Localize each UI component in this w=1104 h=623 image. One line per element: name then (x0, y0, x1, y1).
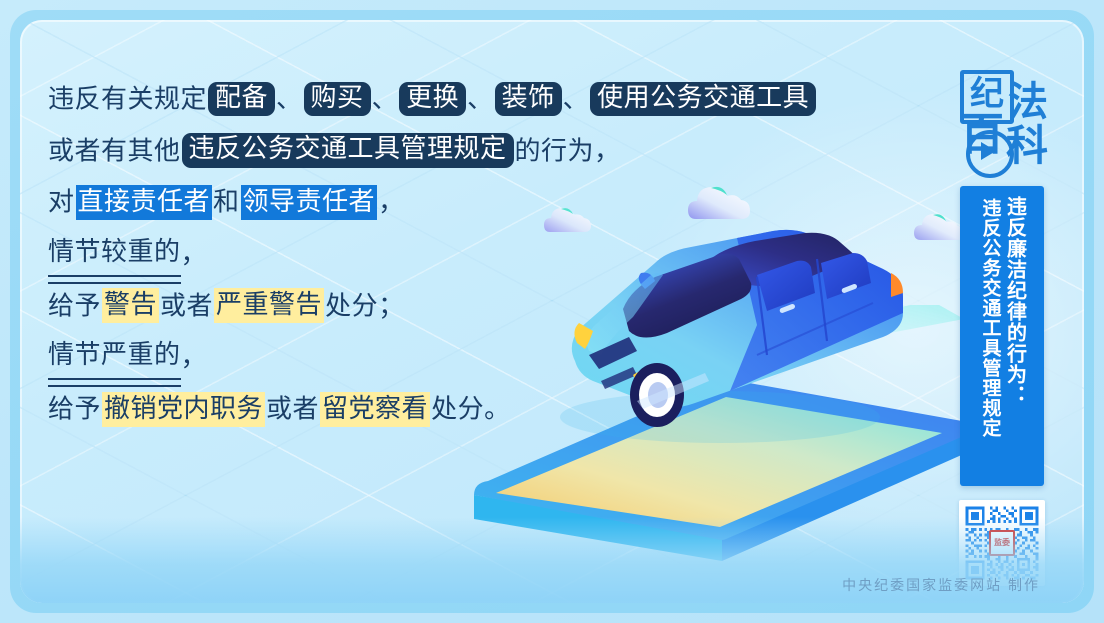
seg-pill-genghuan: 更换 (399, 82, 466, 117)
seg-pill-shiyong: 使用公务交通工具 (590, 82, 816, 117)
poster-canvas: 违反有关规定配备、购买、更换、装饰、使用公务交通工具 或者有其他违反公务交通工具… (0, 0, 1104, 623)
play-triangle-icon (981, 142, 996, 160)
seg-plain: 违反有关规定 (48, 85, 207, 114)
seg-plain: 、 (563, 85, 590, 114)
seg-highlight-liudang: 留党察看 (320, 392, 430, 427)
seg-plain: 给予 (48, 291, 101, 320)
body-line-3: 对直接责任者和领导责任者， (48, 175, 838, 227)
banner-column-left: 违反公务交通工具管理规定 (978, 196, 1002, 476)
vertical-title-banner: 违反廉洁纪律的行为： 违反公务交通工具管理规定 (960, 186, 1044, 486)
seg-pill-weifan-guiding: 违反公务交通工具管理规定 (182, 133, 514, 168)
seg-highlight-jinggao: 警告 (102, 288, 159, 323)
seg-plain: 、 (467, 85, 494, 114)
jifa-baike-logo[interactable]: 纪 法 百 科 (958, 66, 1046, 178)
seg-underline-jiaozhong: 情节较重的 (48, 227, 181, 279)
body-line-4: 情节较重的， (48, 227, 838, 279)
poster-frame-inner: 违反有关规定配备、购买、更换、装饰、使用公务交通工具 或者有其他违反公务交通工具… (20, 20, 1084, 603)
seg-highlight-yanzhong-jinggao: 严重警告 (214, 288, 324, 323)
seg-pill-peibei: 配备 (208, 82, 275, 117)
banner-column-right: 违反廉洁纪律的行为： (1002, 196, 1027, 476)
credit-text: 中央纪委国家监委网站 制作 (842, 575, 1040, 595)
body-line-5: 给予警告或者严重警告处分； (48, 279, 838, 331)
body-line-2: 或者有其他违反公务交通工具管理规定的行为， (48, 124, 838, 176)
body-copy: 违反有关规定配备、购买、更换、装饰、使用公务交通工具 或者有其他违反公务交通工具… (48, 72, 838, 434)
seg-plain: 和 (213, 188, 240, 217)
seg-plain: 给予 (48, 395, 101, 424)
seg-plain: 或者 (266, 395, 319, 424)
seg-plain: 、 (372, 85, 399, 114)
seg-highlight-zhijie: 直接责任者 (76, 185, 213, 220)
seg-pill-zhuangshi: 装饰 (495, 82, 562, 117)
seg-plain: 处分。 (431, 395, 511, 424)
seg-highlight-chexiao: 撤销党内职务 (102, 392, 265, 427)
body-line-6: 情节严重的， (48, 330, 838, 382)
body-line-1: 违反有关规定配备、购买、更换、装饰、使用公务交通工具 (48, 72, 838, 124)
body-line-7: 给予撤销党内职务或者留党察看处分。 (48, 382, 838, 434)
seg-plain: 处分； (325, 291, 405, 320)
seg-plain: ， (181, 239, 208, 268)
seg-underline-yanzhong: 情节严重的 (48, 330, 181, 382)
seg-plain: 对 (48, 188, 75, 217)
seg-plain: 、 (276, 85, 303, 114)
logo-char-fa: 法 (1008, 82, 1048, 122)
seg-plain: 的行为， (515, 136, 621, 165)
seg-plain: ， (181, 343, 208, 372)
seg-plain: 或者有其他 (48, 136, 181, 165)
seg-plain: 或者 (160, 291, 213, 320)
right-rail: 纪 法 百 科 违反廉洁纪律的行为： 违反公务交通工具管理规定 (956, 66, 1048, 586)
seg-pill-goumai: 购买 (304, 82, 371, 117)
seg-highlight-lingdao: 领导责任者 (241, 185, 378, 220)
seg-plain: ， (378, 188, 405, 217)
